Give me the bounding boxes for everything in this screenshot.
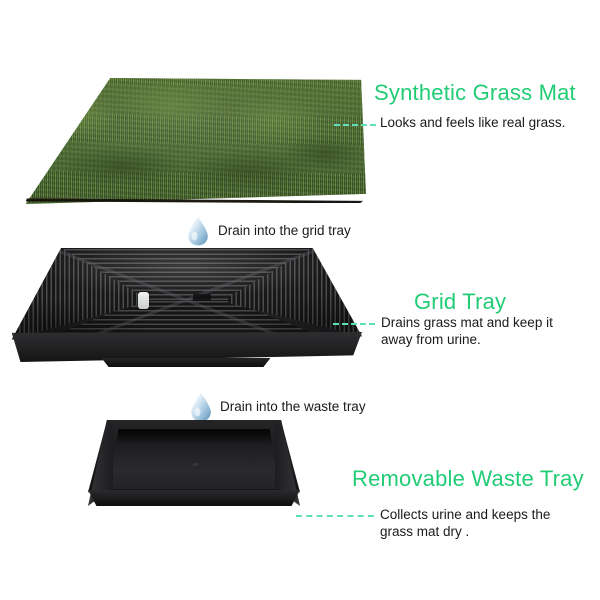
description-removable-waste-tray: Collects urine and keeps the grass mat d… xyxy=(380,506,598,541)
description-grid-tray: Drains grass mat and keep it away from u… xyxy=(381,314,596,349)
leader-line-grid-tray xyxy=(333,323,375,325)
grid-tray-foot xyxy=(98,358,274,367)
grass-mat-surface xyxy=(18,78,366,204)
grass-mat-backing-edge xyxy=(26,198,364,203)
grass-mat-illustration xyxy=(18,78,366,204)
grid-tray-drain-slot xyxy=(138,292,148,310)
leader-line-waste-tray xyxy=(296,515,374,517)
grid-tray-logo-mark xyxy=(193,294,211,301)
flow-label-drain-to-grid: Drain into the grid tray xyxy=(218,224,351,238)
grid-tray-illustration xyxy=(10,248,362,380)
leader-line-grass-mat xyxy=(334,124,376,126)
waste-tray-front-lip xyxy=(88,490,300,506)
heading-removable-waste-tray: Removable Waste Tray xyxy=(352,468,584,490)
description-synthetic-grass-mat: Looks and feels like real grass. xyxy=(380,114,595,131)
water-droplet-icon xyxy=(187,216,209,251)
waste-tray-interior xyxy=(108,429,280,489)
waste-tray-illustration xyxy=(88,420,300,516)
waste-tray-center-mark xyxy=(192,463,199,466)
flow-label-drain-to-waste: Drain into the waste tray xyxy=(220,400,366,414)
grid-tray-side-skirt xyxy=(12,332,362,362)
heading-grid-tray: Grid Tray xyxy=(414,291,506,313)
heading-synthetic-grass-mat: Synthetic Grass Mat xyxy=(374,82,576,104)
infographic-canvas: Synthetic Grass Mat Looks and feels like… xyxy=(0,0,600,600)
